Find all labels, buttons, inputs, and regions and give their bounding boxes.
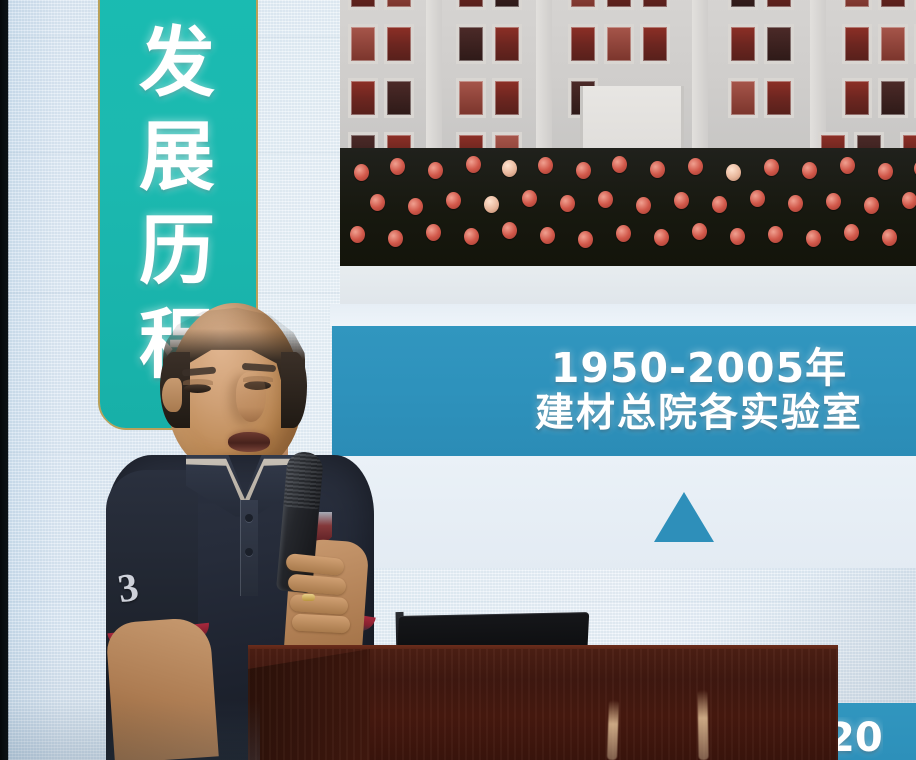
slide-separator-band: [330, 304, 916, 326]
banner-char-2: 展: [139, 110, 217, 204]
banner-char-4: 程: [139, 298, 217, 392]
podium-highlight-1: [607, 700, 619, 760]
banner-char-3: 历: [139, 204, 217, 298]
slide-caption-primary: 1950-2005年 建材总院各实验室: [332, 326, 916, 456]
caption-subtitle: 建材总院各实验室: [535, 391, 863, 437]
group-photo-crowd: [340, 148, 916, 282]
banner-char-1: 发: [139, 16, 217, 110]
floor-shadow: [0, 700, 260, 760]
photo-ground-snow: [340, 266, 916, 304]
slide-caption-gap: [332, 456, 916, 568]
screenshot-root: 发 展 历 程: [0, 0, 916, 760]
slide-historical-photo: [340, 0, 916, 304]
triangle-marker-icon: [654, 492, 714, 542]
caption-year-range: 1950-2005年: [551, 345, 847, 391]
slide-side-banner: 发 展 历 程: [100, 0, 256, 428]
podium-highlight-2: [697, 690, 708, 760]
left-dark-edge: [0, 0, 8, 760]
